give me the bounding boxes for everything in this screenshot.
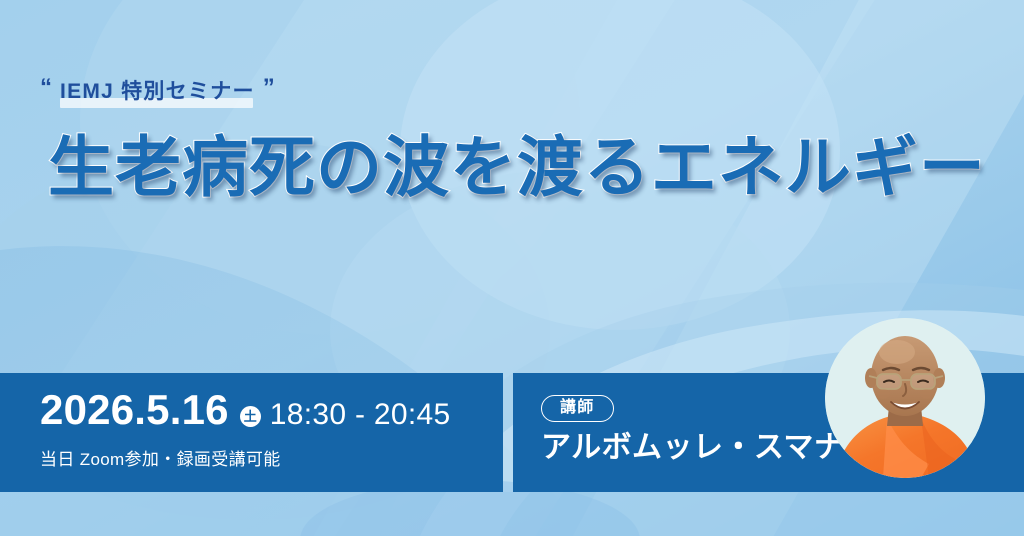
page-title: 生老病死の波を渡るエネルギー [48,132,986,203]
speaker-portrait-illustration [825,318,985,478]
date-panel-content: 2026.5.16 土 18:30 - 20:45 当日 Zoom参加・録画受講… [40,389,450,470]
event-time: 18:30 - 20:45 [270,400,451,430]
attendance-note: 当日 Zoom参加・録画受講可能 [40,445,450,470]
speaker-portrait [825,318,985,478]
subtitle-text: IEMJ 特別セミナー [60,81,255,102]
quote-open-mark: “ [40,76,52,106]
quote-close-mark: ” [263,76,275,106]
seminar-banner: “ IEMJ 特別セミナー ” 生老病死の波を渡るエネルギー 2026.5.16… [0,0,1024,536]
date-panel: 2026.5.16 土 18:30 - 20:45 当日 Zoom参加・録画受講… [0,373,503,492]
event-date: 2026.5.16 [40,389,229,431]
date-row: 2026.5.16 土 18:30 - 20:45 [40,389,450,431]
speaker-role-badge: 講師 [541,395,614,422]
eyebrow-subtitle: “ IEMJ 特別セミナー ” [40,74,275,108]
day-of-week-badge: 土 [240,406,261,427]
